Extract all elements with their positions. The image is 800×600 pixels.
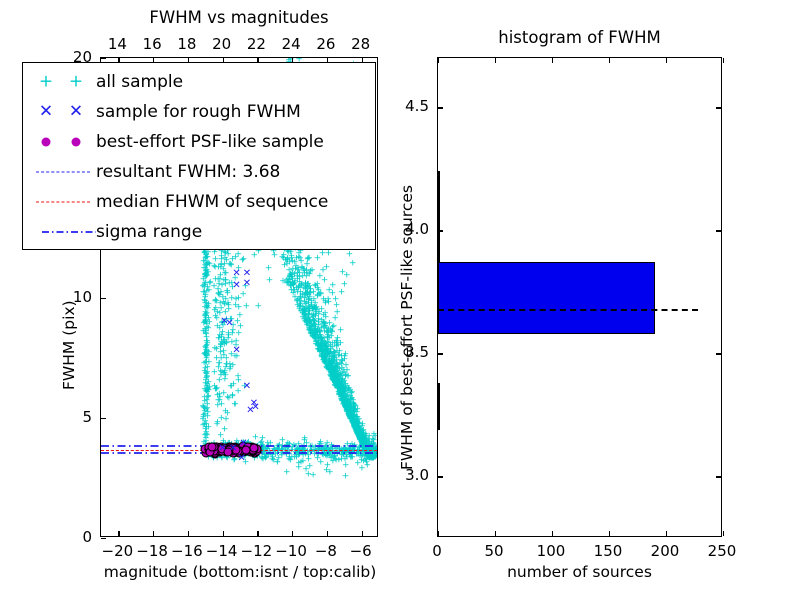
scatter-point-all-sample: +: [353, 426, 361, 435]
scatter-point-all-sample: +: [302, 298, 310, 307]
scatter-point-all-sample: +: [224, 300, 232, 309]
scatter-point-all-sample: +: [323, 360, 331, 369]
histogram-bar: [438, 262, 655, 333]
scatter-point-all-sample: +: [288, 252, 296, 261]
scatter-point-all-sample: +: [327, 454, 335, 463]
scatter-point-all-sample: +: [339, 389, 347, 398]
scatter-point-all-sample: +: [203, 351, 211, 360]
scatter-point-all-sample: +: [214, 419, 222, 428]
scatter-point-all-sample: +: [305, 323, 313, 332]
scatter-point-all-sample: +: [312, 329, 320, 338]
scatter-point-all-sample: +: [321, 323, 329, 332]
legend-item-0[interactable]: ++all sample: [23, 67, 375, 97]
scatter-point-all-sample: +: [334, 342, 342, 351]
scatter-point-all-sample: +: [341, 397, 349, 406]
scatter-point-all-sample: +: [203, 334, 211, 343]
scatter-point-all-sample: +: [199, 276, 207, 285]
scatter-point-all-sample: +: [341, 398, 349, 407]
scatter-point-all-sample: +: [355, 430, 363, 439]
scatter-point-all-sample: +: [350, 420, 358, 429]
scatter-point-all-sample: +: [352, 423, 360, 432]
scatter-point-all-sample: +: [295, 249, 303, 258]
scatter-point-all-sample: +: [338, 391, 346, 400]
scatter-point-all-sample: +: [204, 261, 212, 270]
scatter-point-all-sample: +: [341, 400, 349, 409]
scatter-point-all-sample: +: [343, 400, 351, 409]
scatter-point-all-sample: +: [349, 417, 357, 426]
scatter-point-all-sample: +: [202, 388, 210, 397]
scatter-point-all-sample: +: [356, 429, 364, 438]
scatter-point-all-sample: +: [297, 288, 305, 297]
scatter-point-all-sample: +: [355, 428, 363, 437]
scatter-point-rough-sample: ✕: [243, 269, 251, 279]
scatter-point-all-sample: +: [313, 329, 321, 338]
legend-item-label: best-effort PSF-like sample: [96, 134, 324, 151]
scatter-point-all-sample: +: [337, 360, 345, 369]
scatter-point-all-sample: +: [201, 410, 209, 419]
scatter-point-all-sample: +: [354, 426, 362, 435]
scatter-point-all-sample: +: [326, 363, 334, 372]
scatter-point-all-sample: +: [324, 346, 332, 355]
scatter-point-all-sample: +: [350, 420, 358, 429]
scatter-point-all-sample: +: [356, 430, 364, 439]
scatter-point-all-sample: +: [339, 389, 347, 398]
histogram-bar: [438, 408, 440, 430]
scatter-point-all-sample: +: [206, 319, 214, 328]
scatter-point-all-sample: +: [202, 406, 210, 415]
scatter-point-all-sample: +: [227, 260, 235, 269]
y-tick-mark: [101, 538, 106, 539]
scatter-point-all-sample: +: [350, 421, 358, 430]
scatter-point-all-sample: +: [202, 346, 210, 355]
scatter-point-all-sample: +: [301, 311, 309, 320]
scatter-point-all-sample: +: [323, 343, 331, 352]
scatter-point-all-sample: +: [352, 425, 360, 434]
scatter-point-all-sample: +: [307, 285, 315, 294]
scatter-point-all-sample: +: [316, 348, 324, 357]
scatter-point-all-sample: +: [222, 276, 230, 285]
scatter-point-all-sample: +: [329, 359, 337, 368]
scatter-point-all-sample: +: [203, 354, 211, 363]
scatter-point-all-sample: +: [353, 426, 361, 435]
scatter-point-all-sample: +: [319, 320, 327, 329]
scatter-point-all-sample: +: [343, 405, 351, 414]
scatter-point-all-sample: +: [346, 407, 354, 416]
scatter-point-all-sample: +: [295, 297, 303, 306]
scatter-point-all-sample: +: [296, 282, 304, 291]
scatter-point-all-sample: +: [316, 331, 324, 340]
scatter-point-all-sample: +: [289, 281, 297, 290]
scatter-point-all-sample: +: [339, 385, 347, 394]
scatter-point-all-sample: +: [356, 434, 364, 443]
scatter-point-all-sample: +: [340, 397, 348, 406]
scatter-point-all-sample: +: [350, 420, 358, 429]
scatter-point-all-sample: +: [348, 412, 356, 421]
scatter-point-all-sample: +: [344, 406, 352, 415]
legend-item-4[interactable]: median FHWM of sequence: [23, 187, 375, 217]
scatter-point-all-sample: +: [202, 434, 210, 443]
scatter-point-all-sample: +: [311, 330, 319, 339]
scatter-point-all-sample: +: [357, 432, 365, 441]
scatter-point-all-sample: +: [225, 330, 233, 339]
scatter-point-all-sample: +: [354, 427, 362, 436]
scatter-point-all-sample: +: [328, 372, 336, 381]
legend-item-2[interactable]: best-effort PSF-like sample: [23, 127, 375, 157]
scatter-point-all-sample: +: [339, 397, 347, 406]
scatter-point-all-sample: +: [203, 353, 211, 362]
scatter-point-all-sample: +: [285, 266, 293, 275]
scatter-point-all-sample: +: [344, 410, 352, 419]
scatter-point-all-sample: +: [346, 409, 354, 418]
hist-x-tick-label: 200: [651, 542, 680, 560]
scatter-point-all-sample: +: [338, 390, 346, 399]
scatter-point-all-sample: +: [315, 333, 323, 342]
scatter-point-all-sample: +: [221, 301, 229, 310]
scatter-point-all-sample: +: [341, 404, 349, 413]
scatter-point-all-sample: +: [225, 302, 233, 311]
scatter-point-all-sample: +: [321, 358, 329, 367]
scatter-point-all-sample: +: [231, 401, 239, 410]
scatter-point-all-sample: +: [349, 413, 357, 422]
scatter-point-all-sample: +: [305, 310, 313, 319]
scatter-point-all-sample: +: [201, 398, 209, 407]
scatter-point-all-sample: +: [300, 316, 308, 325]
scatter-point-all-sample: +: [210, 283, 218, 292]
scatter-point-all-sample: +: [340, 388, 348, 397]
scatter-point-all-sample: +: [338, 392, 346, 401]
scatter-point-all-sample: +: [218, 368, 226, 377]
x-tick-mark: [292, 531, 293, 536]
plus-glyph: +: [39, 74, 53, 91]
scatter-point-all-sample: +: [226, 360, 234, 369]
scatter-point-all-sample: +: [333, 361, 341, 370]
scatter-point-all-sample: +: [337, 385, 345, 394]
scatter-point-all-sample: +: [203, 267, 211, 276]
scatter-point-all-sample: +: [297, 459, 305, 468]
scatter-point-all-sample: +: [343, 407, 351, 416]
scatter-point-all-sample: +: [348, 414, 356, 423]
scatter-point-all-sample: +: [339, 392, 347, 401]
scatter-point-all-sample: +: [333, 371, 341, 380]
scatter-point-all-sample: +: [204, 413, 212, 422]
scatter-point-all-sample: +: [296, 269, 304, 278]
scatter-point-all-sample: +: [308, 301, 316, 310]
scatter-point-all-sample: +: [355, 432, 363, 441]
scatter-point-all-sample: +: [308, 321, 316, 330]
scatter-point-all-sample: +: [305, 318, 313, 327]
scatter-point-all-sample: +: [351, 426, 359, 435]
scatter-point-all-sample: +: [359, 429, 367, 438]
scatter-point-all-sample: +: [350, 421, 358, 430]
scatter-point-all-sample: +: [289, 289, 297, 298]
scatter-point-all-sample: +: [336, 390, 344, 399]
scatter-point-all-sample: +: [358, 434, 366, 443]
scatter-point-all-sample: +: [226, 366, 234, 375]
scatter-point-all-sample: +: [335, 456, 343, 465]
scatter-point-all-sample: +: [206, 260, 214, 269]
scatter-point-all-sample: +: [315, 310, 323, 319]
scatter-point-all-sample: +: [311, 305, 319, 314]
scatter-point-all-sample: +: [355, 432, 363, 441]
scatter-point-all-sample: +: [214, 308, 222, 317]
scatter-point-all-sample: +: [235, 304, 243, 313]
scatter-point-all-sample: +: [321, 276, 329, 285]
scatter-point-all-sample: +: [316, 346, 324, 355]
scatter-point-all-sample: +: [359, 420, 367, 429]
scatter-point-all-sample: +: [355, 430, 363, 439]
scatter-point-all-sample: +: [323, 364, 331, 373]
scatter-point-all-sample: +: [356, 435, 364, 444]
scatter-point-all-sample: +: [212, 313, 220, 322]
scatter-point-all-sample: +: [346, 403, 354, 412]
legend-item-5[interactable]: sigma range: [23, 217, 375, 247]
scatter-point-all-sample: +: [336, 388, 344, 397]
scatter-point-all-sample: +: [204, 394, 212, 403]
scatter-point-all-sample: +: [217, 288, 225, 297]
scatter-point-all-sample: +: [300, 266, 308, 275]
scatter-point-all-sample: +: [307, 331, 315, 340]
scatter-point-all-sample: +: [338, 390, 346, 399]
scatter-point-all-sample: +: [222, 408, 230, 417]
scatter-point-all-sample: +: [325, 351, 333, 360]
scatter-point-all-sample: +: [336, 384, 344, 393]
scatter-point-all-sample: +: [346, 415, 354, 424]
scatter-point-all-sample: +: [319, 351, 327, 360]
scatter-point-all-sample: +: [345, 412, 353, 421]
scatter-point-all-sample: +: [301, 310, 309, 319]
scatter-point-all-sample: +: [202, 270, 210, 279]
scatter-point-all-sample: +: [324, 328, 332, 337]
scatter-point-all-sample: +: [286, 258, 294, 267]
scatter-point-all-sample: +: [345, 408, 353, 417]
scatter-point-all-sample: +: [337, 395, 345, 404]
scatter-point-all-sample: +: [337, 340, 345, 349]
scatter-point-all-sample: +: [370, 430, 377, 439]
scatter-point-all-sample: +: [323, 363, 331, 372]
scatter-point-all-sample: +: [317, 331, 325, 340]
scatter-point-all-sample: +: [367, 454, 375, 463]
scatter-point-all-sample: +: [347, 395, 355, 404]
scatter-point-all-sample: +: [344, 387, 352, 396]
scatter-point-all-sample: +: [219, 329, 227, 338]
scatter-point-all-sample: +: [327, 341, 335, 350]
scatter-point-all-sample: +: [298, 264, 306, 273]
scatter-point-all-sample: +: [343, 400, 351, 409]
scatter-point-all-sample: +: [213, 314, 221, 323]
scatter-point-all-sample: +: [355, 428, 363, 437]
circle-glyph: [42, 138, 51, 147]
scatter-point-all-sample: +: [314, 345, 322, 354]
scatter-point-all-sample: +: [203, 262, 211, 271]
scatter-point-all-sample: +: [321, 352, 329, 361]
scatter-point-all-sample: +: [326, 320, 334, 329]
scatter-point-all-sample: +: [224, 409, 232, 418]
scatter-point-all-sample: +: [340, 394, 348, 403]
scatter-point-all-sample: +: [355, 432, 363, 441]
scatter-point-all-sample: +: [353, 426, 361, 435]
scatter-point-all-sample: +: [321, 321, 329, 330]
scatter-point-all-sample: +: [205, 393, 213, 402]
scatter-point-all-sample: +: [341, 387, 349, 396]
scatter-point-all-sample: +: [222, 363, 230, 372]
scatter-point-all-sample: +: [323, 324, 331, 333]
hist-x-tick-mark: [723, 531, 724, 536]
scatter-point-all-sample: +: [203, 337, 211, 346]
scatter-point-all-sample: +: [346, 409, 354, 418]
scatter-point-all-sample: +: [360, 429, 368, 438]
scatter-point-all-sample: +: [338, 391, 346, 400]
scatter-point-all-sample: +: [331, 381, 339, 390]
scatter-point-all-sample: +: [201, 404, 209, 413]
scatter-point-all-sample: +: [266, 276, 274, 285]
scatter-point-all-sample: +: [342, 394, 350, 403]
scatter-point-all-sample: +: [351, 402, 359, 411]
scatter-point-all-sample: +: [303, 290, 311, 299]
scatter-point-all-sample: +: [288, 287, 296, 296]
scatter-point-rough-sample: ✕: [243, 279, 251, 289]
scatter-point-all-sample: +: [337, 372, 345, 381]
scatter-point-all-sample: +: [340, 399, 348, 408]
scatter-point-all-sample: +: [354, 419, 362, 428]
scatter-point-rough-sample: ✕: [251, 403, 259, 413]
scatter-point-all-sample: +: [308, 312, 316, 321]
scatter-point-all-sample: +: [294, 276, 302, 285]
scatter-point-all-sample: +: [359, 434, 367, 443]
scatter-point-all-sample: +: [351, 423, 359, 432]
scatter-point-all-sample: +: [350, 407, 358, 416]
legend-item-1[interactable]: ✕✕sample for rough FWHM: [23, 97, 375, 127]
scatter-point-all-sample: +: [335, 372, 343, 381]
scatter-point-all-sample: +: [305, 324, 313, 333]
scatter-point-all-sample: +: [201, 296, 209, 305]
scatter-point-rough-sample: ✕: [232, 346, 240, 356]
scatter-point-all-sample: +: [210, 262, 218, 271]
scatter-point-all-sample: +: [332, 372, 340, 381]
scatter-point-all-sample: +: [353, 427, 361, 436]
scatter-point-all-sample: +: [218, 331, 226, 340]
scatter-point-all-sample: +: [203, 372, 211, 381]
scatter-point-all-sample: +: [289, 274, 297, 283]
scatter-point-all-sample: +: [302, 280, 310, 289]
scatter-point-all-sample: +: [220, 277, 228, 286]
scatter-point-all-sample: +: [220, 351, 228, 360]
scatter-point-all-sample: +: [203, 423, 211, 432]
scatter-point-all-sample: +: [338, 353, 346, 362]
scatter-point-all-sample: +: [215, 396, 223, 405]
scatter-point-all-sample: +: [356, 435, 364, 444]
scatter-point-all-sample: +: [202, 377, 210, 386]
scatter-point-all-sample: +: [291, 258, 299, 267]
scatter-point-all-sample: +: [298, 281, 306, 290]
figure-canvas: FWHM vs magnitudes 1416182022242628 ++++…: [0, 0, 800, 600]
scatter-point-all-sample: +: [324, 364, 332, 373]
scatter-point-all-sample: +: [200, 257, 208, 266]
scatter-point-all-sample: +: [349, 418, 357, 427]
scatter-point-all-sample: +: [354, 424, 362, 433]
scatter-point-all-sample: +: [350, 406, 358, 415]
scatter-point-all-sample: +: [354, 413, 362, 422]
scatter-point-all-sample: +: [358, 433, 366, 442]
scatter-point-all-sample: +: [323, 327, 331, 336]
scatter-point-all-sample: +: [337, 388, 345, 397]
right-x-axis-label: number of sources: [437, 563, 722, 581]
scatter-point-all-sample: +: [239, 257, 247, 266]
scatter-point-all-sample: +: [202, 365, 210, 374]
scatter-point-all-sample: +: [344, 401, 352, 410]
hist-x-tick-mark: [438, 58, 439, 63]
scatter-point-all-sample: +: [350, 412, 358, 421]
scatter-point-all-sample: +: [321, 342, 329, 351]
scatter-point-all-sample: +: [202, 265, 210, 274]
scatter-point-all-sample: +: [286, 278, 294, 287]
scatter-point-all-sample: +: [322, 357, 330, 366]
scatter-point-all-sample: +: [345, 408, 353, 417]
scatter-point-all-sample: +: [337, 389, 345, 398]
scatter-point-all-sample: +: [343, 454, 351, 463]
scatter-point-all-sample: +: [332, 455, 340, 464]
x-tick-label: −10: [275, 542, 307, 560]
scatter-point-all-sample: +: [329, 358, 337, 367]
scatter-point-all-sample: +: [304, 280, 312, 289]
scatter-point-all-sample: +: [347, 415, 355, 424]
scatter-point-all-sample: +: [356, 435, 364, 444]
scatter-point-all-sample: +: [325, 349, 333, 358]
scatter-point-all-sample: +: [339, 389, 347, 398]
scatter-point-all-sample: +: [329, 368, 337, 377]
scatter-point-all-sample: +: [326, 363, 334, 372]
scatter-point-all-sample: +: [306, 285, 314, 294]
scatter-point-all-sample: +: [345, 405, 353, 414]
scatter-point-all-sample: +: [216, 292, 224, 301]
scatter-point-all-sample: +: [203, 302, 211, 311]
scatter-point-all-sample: +: [343, 401, 351, 410]
scatter-point-all-sample: +: [337, 387, 345, 396]
scatter-point-all-sample: +: [201, 326, 209, 335]
scatter-point-all-sample: +: [204, 268, 212, 277]
scatter-point-all-sample: +: [328, 350, 336, 359]
scatter-point-all-sample: +: [330, 348, 338, 357]
scatter-point-all-sample: +: [242, 303, 250, 312]
scatter-point-all-sample: +: [335, 385, 343, 394]
scatter-point-all-sample: +: [217, 344, 225, 353]
scatter-point-all-sample: +: [311, 330, 319, 339]
scatter-point-all-sample: +: [229, 255, 237, 264]
scatter-point-all-sample: +: [232, 254, 240, 263]
scatter-point-all-sample: +: [329, 365, 337, 374]
scatter-point-all-sample: +: [312, 283, 320, 292]
scatter-point-all-sample: +: [201, 420, 209, 429]
scatter-point-all-sample: +: [306, 305, 314, 314]
scatter-point-all-sample: +: [316, 329, 324, 338]
scatter-point-all-sample: +: [354, 460, 362, 469]
scatter-point-all-sample: +: [314, 285, 322, 294]
scatter-point-all-sample: +: [330, 372, 338, 381]
scatter-point-all-sample: +: [207, 278, 215, 287]
scatter-point-all-sample: +: [329, 364, 337, 373]
histogram-plot-area: [438, 58, 721, 536]
hist-y-tick-mark: [438, 230, 443, 231]
scatter-point-all-sample: +: [292, 266, 300, 275]
legend-item-3[interactable]: resultant FWHM: 3.68: [23, 157, 375, 187]
scatter-point-all-sample: +: [344, 400, 352, 409]
scatter-point-all-sample: +: [328, 328, 336, 337]
scatter-point-all-sample: +: [343, 398, 351, 407]
scatter-point-all-sample: +: [333, 356, 341, 365]
scatter-point-all-sample: +: [319, 357, 327, 366]
scatter-point-all-sample: +: [229, 284, 237, 293]
scatter-point-all-sample: +: [219, 322, 227, 331]
legend-item-label: resultant FWHM: 3.68: [96, 164, 280, 181]
